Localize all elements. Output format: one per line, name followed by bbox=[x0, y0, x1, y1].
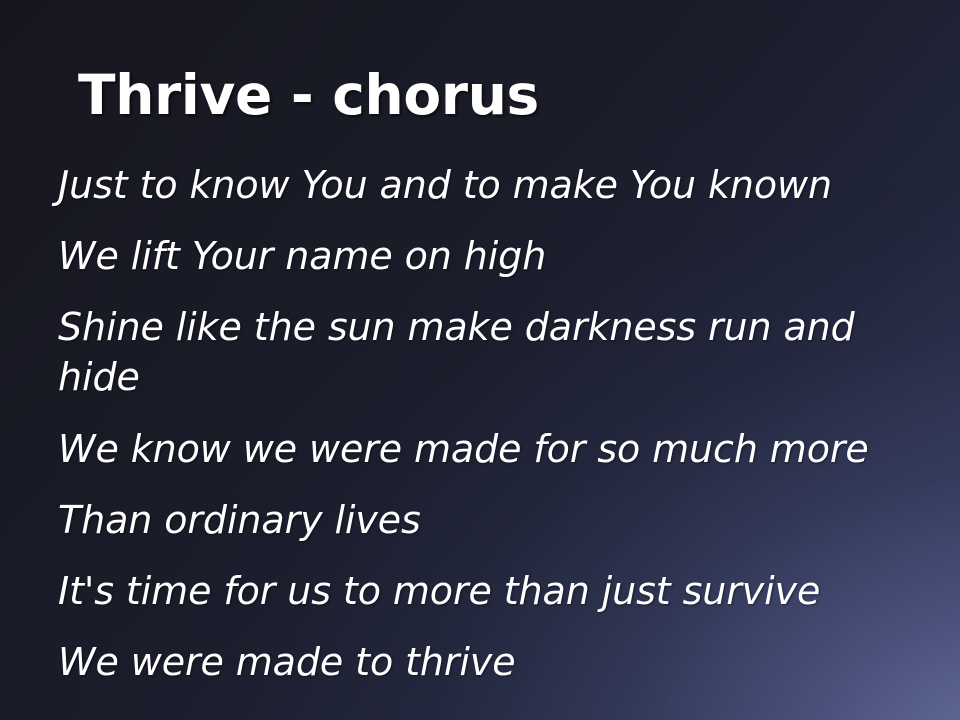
lyrics-body: Just to know You and to make You known W… bbox=[58, 160, 870, 687]
page-title: Thrive - chorus bbox=[78, 66, 908, 125]
lyric-line: Than ordinary lives bbox=[58, 495, 870, 545]
lyric-line: We lift Your name on high bbox=[58, 231, 870, 281]
lyric-line: We were made to thrive bbox=[58, 637, 870, 687]
lyric-line: Shine like the sun make darkness run and… bbox=[58, 302, 870, 402]
presentation-slide: Thrive - chorus Just to know You and to … bbox=[0, 0, 960, 720]
lyric-line: We know we were made for so much more bbox=[58, 424, 870, 474]
lyric-line: It's time for us to more than just survi… bbox=[58, 566, 870, 616]
lyric-line: Just to know You and to make You known bbox=[58, 160, 870, 210]
slide-title-block: Thrive - chorus bbox=[78, 66, 908, 125]
